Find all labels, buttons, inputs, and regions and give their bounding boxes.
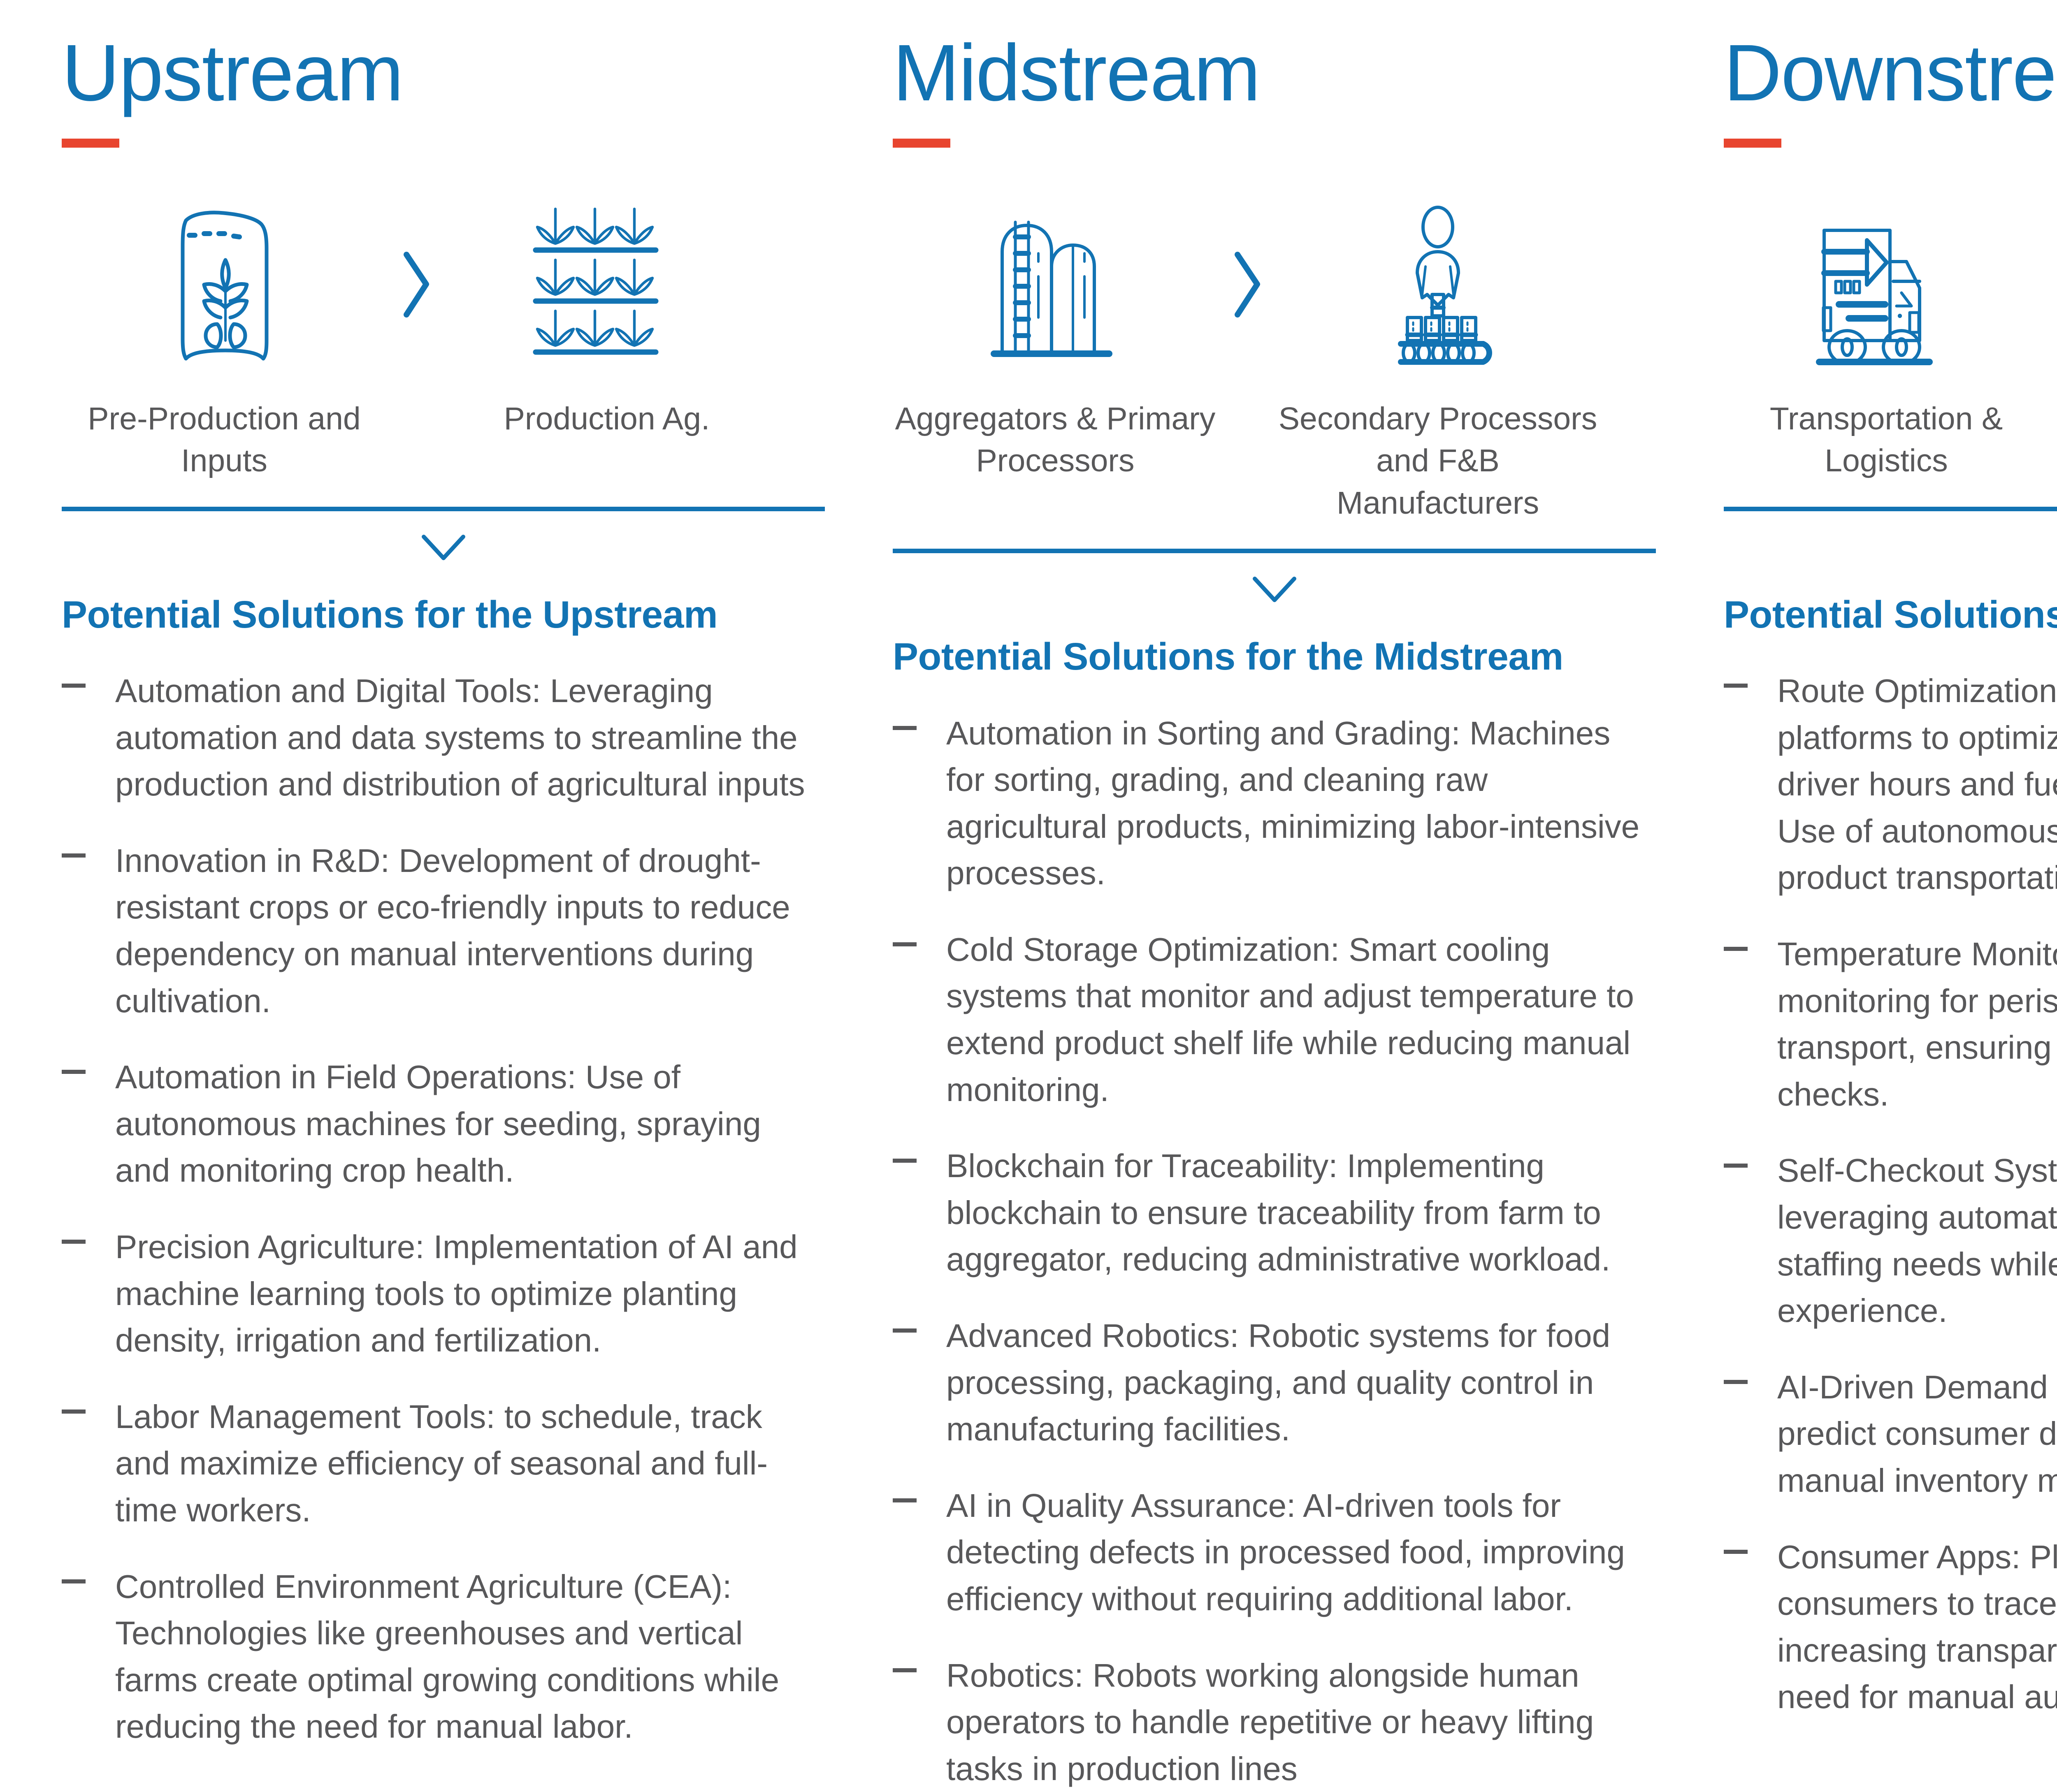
list-item: Precision Agriculture: Implementation of… bbox=[62, 1224, 806, 1364]
list-item: Controlled Environment Agriculture (CEA)… bbox=[62, 1563, 806, 1750]
column-upstream: Upstream bbox=[62, 33, 893, 1745]
bullet-dash-icon bbox=[62, 1409, 86, 1414]
list-item-text: Automation and Digital Tools: Leveraging… bbox=[115, 672, 805, 802]
list-item-text: Precision Agriculture: Implementation of… bbox=[115, 1229, 798, 1358]
list-item: Labor Management Tools: to schedule, tra… bbox=[62, 1393, 806, 1534]
list-item-text: Innovation in R&D: Development of drough… bbox=[115, 842, 790, 1019]
bullet-dash-icon bbox=[62, 684, 86, 688]
column-title-upstream: Upstream bbox=[62, 33, 847, 113]
delivery-truck-icon bbox=[1814, 196, 1958, 373]
bullet-dash-icon bbox=[1724, 1164, 1748, 1168]
stage-label: Aggregators & Primary Processors bbox=[895, 398, 1216, 482]
list-item: Automation in Field Operations: Use of a… bbox=[62, 1054, 806, 1194]
list-item-text: Controlled Environment Agriculture (CEA)… bbox=[115, 1568, 779, 1745]
list-item: Consumer Apps: Platforms that allow cons… bbox=[1724, 1534, 2057, 1720]
chevron-right-icon bbox=[387, 196, 444, 373]
list-item: Advanced Robotics: Robotic systems for f… bbox=[893, 1312, 1656, 1453]
bullet-dash-icon bbox=[893, 942, 917, 946]
section-divider bbox=[62, 507, 825, 511]
column-downstream: Downstream bbox=[1724, 33, 2057, 1745]
bullet-dash-icon bbox=[62, 1240, 86, 1244]
section-divider bbox=[1724, 507, 2057, 511]
list-item-text: Advanced Robotics: Robotic systems for f… bbox=[946, 1317, 1610, 1447]
list-item-text: Cold Storage Optimization: Smart cooling… bbox=[946, 931, 1634, 1108]
supply-chain-infographic: Upstream bbox=[0, 0, 2057, 1745]
list-item: AI-Driven Demand Forecasting: Systems to… bbox=[1724, 1364, 2057, 1504]
bullet-dash-icon bbox=[893, 1668, 917, 1672]
seed-bag-icon bbox=[156, 196, 292, 373]
chevron-down-icon bbox=[62, 531, 825, 568]
chevron-right-icon bbox=[2049, 196, 2057, 373]
bullet-dash-icon bbox=[1724, 684, 1748, 688]
column-title-downstream: Downstream bbox=[1724, 33, 2057, 113]
list-item-text: Blockchain for Traceability: Implementin… bbox=[946, 1148, 1610, 1277]
section-divider bbox=[893, 549, 1656, 553]
list-item-text: Temperature Monitoring Systems: Real-tim… bbox=[1777, 936, 2057, 1113]
bullet-dash-icon bbox=[62, 853, 86, 858]
list-item-text: Automation in Sorting and Grading: Machi… bbox=[946, 715, 1639, 892]
list-item-text: AI-Driven Demand Forecasting: Systems to… bbox=[1777, 1369, 2057, 1499]
list-item: Robotics: Robots working alongside human… bbox=[893, 1652, 1656, 1792]
list-item: Automation in Sorting and Grading: Machi… bbox=[893, 710, 1656, 897]
stage-row-midstream: Aggregators & Primary Processors bbox=[893, 196, 1679, 524]
list-item: Route Optimization Software: AI-driven l… bbox=[1724, 668, 2057, 901]
list-item-text: Robotics: Robots working alongside human… bbox=[946, 1657, 1594, 1787]
list-item-text: AI in Quality Assurance: AI-driven tools… bbox=[946, 1487, 1625, 1617]
bullet-dash-icon bbox=[893, 1159, 917, 1163]
bullet-dash-icon bbox=[893, 726, 917, 730]
bullet-dash-icon bbox=[893, 1498, 917, 1502]
stage-row-downstream: Transportation & Logistics bbox=[1724, 196, 2057, 482]
solutions-title-upstream: Potential Solutions for the Upstream bbox=[62, 593, 847, 635]
factory-worker-conveyor-icon bbox=[1368, 196, 1508, 373]
bullet-dash-icon bbox=[1724, 1380, 1748, 1384]
title-underline-accent bbox=[893, 139, 950, 148]
list-item: AI in Quality Assurance: AI-driven tools… bbox=[893, 1482, 1656, 1623]
solutions-list-upstream: Automation and Digital Tools: Leveraging… bbox=[62, 668, 847, 1750]
bullet-dash-icon bbox=[62, 1070, 86, 1074]
list-item-text: Labor Management Tools: to schedule, tra… bbox=[115, 1398, 768, 1528]
chevron-down-icon bbox=[1724, 531, 2057, 568]
silo-tanks-icon bbox=[987, 196, 1123, 373]
column-title-midstream: Midstream bbox=[893, 33, 1679, 113]
solutions-list-midstream: Automation in Sorting and Grading: Machi… bbox=[893, 710, 1679, 1792]
list-item: Blockchain for Traceability: Implementin… bbox=[893, 1143, 1656, 1283]
stage-label: Secondary Processors and F&B Manufacture… bbox=[1277, 398, 1598, 524]
solutions-title-downstream: Potential Solutions for the Upstream bbox=[1724, 593, 2057, 635]
stage-pre-production-and-inputs: Pre-Production and Inputs bbox=[62, 196, 387, 482]
bullet-dash-icon bbox=[1724, 947, 1748, 951]
stage-label: Transportation & Logistics bbox=[1726, 398, 2047, 482]
title-underline-accent bbox=[62, 139, 119, 148]
column-midstream: Midstream bbox=[893, 33, 1724, 1745]
bullet-dash-icon bbox=[1724, 1550, 1748, 1554]
stage-aggregators-primary-processors: Aggregators & Primary Processors bbox=[893, 196, 1218, 482]
solutions-list-downstream: Route Optimization Software: AI-driven l… bbox=[1724, 668, 2057, 1720]
stage-label: Production Ag. bbox=[504, 398, 710, 440]
stage-label: Pre-Production and Inputs bbox=[64, 398, 385, 482]
chevron-right-icon bbox=[1218, 196, 1275, 373]
stage-production-ag: Production Ag. bbox=[444, 196, 769, 440]
title-underline-accent bbox=[1724, 139, 1781, 148]
solutions-title-midstream: Potential Solutions for the Midstream bbox=[893, 635, 1679, 677]
list-item-text: Consumer Apps: Platforms that allow cons… bbox=[1777, 1539, 2057, 1715]
chevron-down-icon bbox=[893, 573, 1656, 610]
list-item: Temperature Monitoring Systems: Real-tim… bbox=[1724, 931, 2057, 1117]
crop-rows-icon bbox=[531, 196, 683, 373]
list-item: Innovation in R&D: Development of drough… bbox=[62, 837, 806, 1024]
list-item: Self-Checkout Systems: Retail outlets le… bbox=[1724, 1147, 2057, 1334]
list-item-text: Automation in Field Operations: Use of a… bbox=[115, 1059, 761, 1189]
stage-row-upstream: Pre-Production and Inputs bbox=[62, 196, 847, 482]
list-item: Cold Storage Optimization: Smart cooling… bbox=[893, 926, 1656, 1113]
list-item-text: Route Optimization Software: AI-driven l… bbox=[1777, 672, 2057, 896]
bullet-dash-icon bbox=[62, 1579, 86, 1583]
bullet-dash-icon bbox=[893, 1328, 917, 1333]
stage-transportation-logistics: Transportation & Logistics bbox=[1724, 196, 2049, 482]
list-item: Automation and Digital Tools: Leveraging… bbox=[62, 668, 806, 808]
stage-secondary-processors-fb: Secondary Processors and F&B Manufacture… bbox=[1275, 196, 1600, 524]
list-item-text: Self-Checkout Systems: Retail outlets le… bbox=[1777, 1152, 2057, 1329]
